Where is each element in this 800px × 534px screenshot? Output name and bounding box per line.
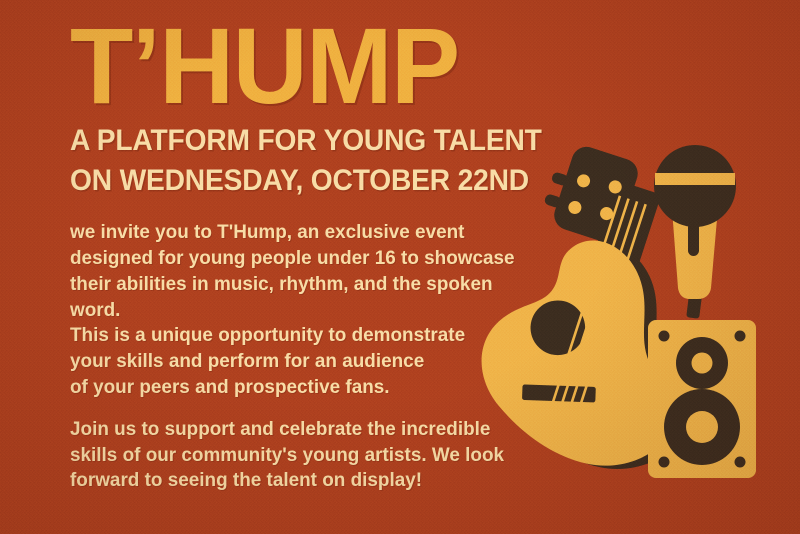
poster-canvas: T’HUMP A PLATFORM FOR YOUNG TALENT ON WE… xyxy=(0,0,800,534)
microphone-illustration xyxy=(654,145,736,319)
body-paragraph-1: we invite you to T'Hump, an exclusive ev… xyxy=(70,220,526,401)
poster-text-column: T’HUMP A PLATFORM FOR YOUNG TALENT ON WE… xyxy=(70,0,540,494)
speaker-illustration xyxy=(648,320,756,478)
page-title: T’HUMP xyxy=(70,0,521,113)
subtitle-line-2: ON WEDNESDAY, OCTOBER 22ND xyxy=(70,163,512,200)
subtitle-line-1: A PLATFORM FOR YOUNG TALENT xyxy=(70,123,512,160)
body-paragraph-2: Join us to support and celebrate the inc… xyxy=(70,417,526,494)
